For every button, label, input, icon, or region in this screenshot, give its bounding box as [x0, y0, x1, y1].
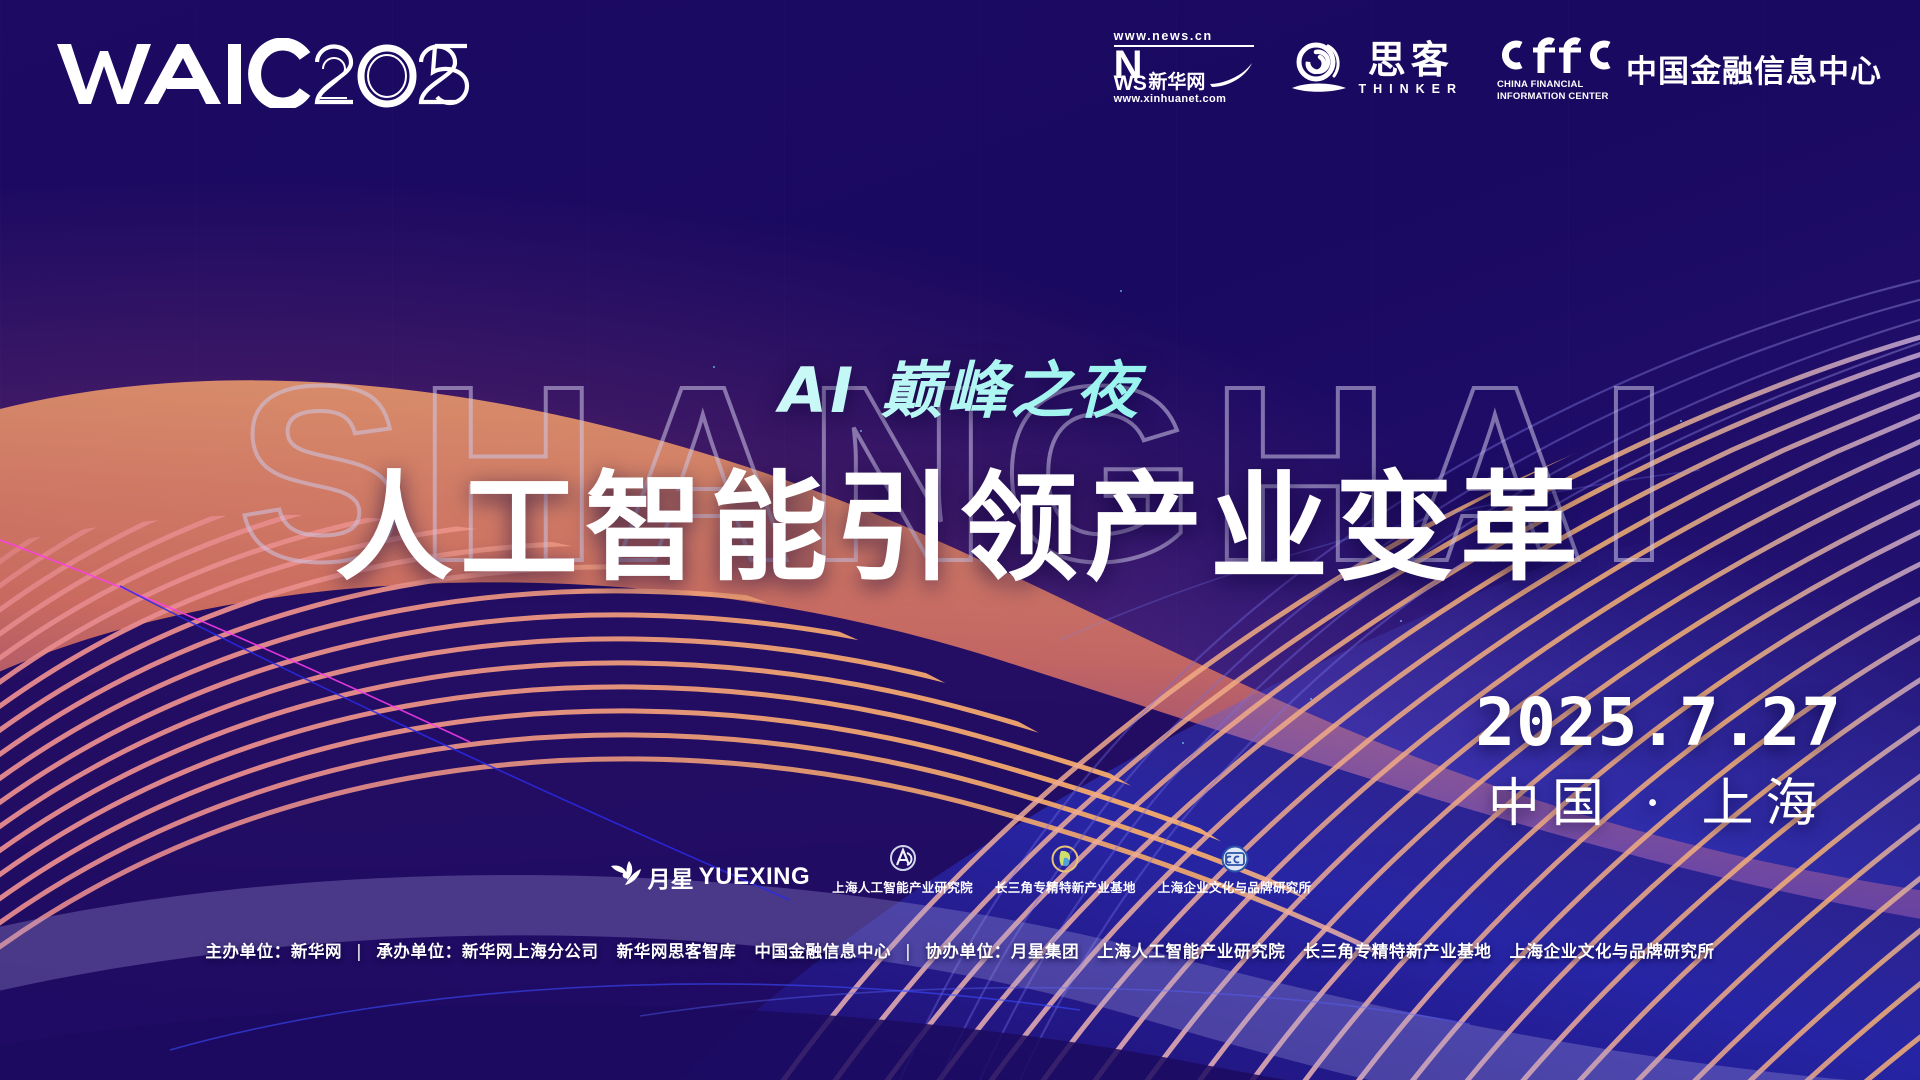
- xinhua-swoosh-icon: [1208, 61, 1254, 92]
- cfic-chinese-name: 中国金融信息中心: [1626, 46, 1882, 91]
- shanghai-culture-brand-institute-label: 上海企业文化与品牌研究所: [1158, 877, 1312, 896]
- thinker-chinese-name: 思客: [1368, 41, 1454, 79]
- credits-host-2: 新华网思客智库: [617, 942, 737, 961]
- sponsor-logo-shanghai-ai-institute: 上海人工智能产业研究院: [832, 845, 973, 896]
- sponsor-logo-shanghai-culture-brand-institute: 上海企业文化与品牌研究所: [1158, 845, 1312, 896]
- sponsor-logo-yuexing: 月星 YUEXING: [609, 859, 811, 896]
- xinhua-wordmark: N WS 新华网: [1114, 49, 1255, 93]
- credits-coorganizer: 协办单位：月星集团: [925, 942, 1079, 961]
- thinker-wordmark: 思客 THINKER: [1358, 41, 1463, 96]
- xinhua-chinese-name: 新华网: [1148, 73, 1205, 92]
- sponsor-logo-yangtze-delta-base: 长三角专精特新产业基地: [995, 845, 1136, 896]
- event-city: 中国 · 上海: [1475, 778, 1842, 830]
- cfic-mark: CHINA FINANCIAL INFORMATION CENTER: [1497, 34, 1613, 102]
- thinker-english-name: THINKER: [1358, 82, 1463, 96]
- shanghai-ai-institute-badge-icon: [887, 845, 919, 875]
- xinhua-url-top: www.news.cn: [1114, 30, 1213, 44]
- sponsor-logo-strip: 月星 YUEXING 上海人工智能产业研究院: [0, 845, 1920, 896]
- yuexing-english-name: YUEXING: [699, 863, 811, 891]
- credits-host-3: 中国金融信息中心: [754, 942, 891, 961]
- shanghai-ai-institute-label: 上海人工智能产业研究院: [832, 877, 973, 896]
- event-title: 人工智能引领产业变革: [0, 432, 1920, 603]
- credits-coorg-3: 长三角专精特新产业基地: [1303, 942, 1491, 961]
- xinhua-url-bottom: www.xinhuanet.com: [1114, 93, 1227, 106]
- yuexing-star-icon: [609, 859, 643, 894]
- xinhuanet-logo: www.news.cn N WS 新华网 www.xinhuanet.com: [1114, 30, 1255, 107]
- xinhua-letter-ws: WS: [1114, 76, 1147, 93]
- top-logo-bar: www.news.cn N WS 新华网 www.xinhuanet.com: [0, 0, 1920, 132]
- credits-coorg-2: 上海人工智能产业研究院: [1097, 942, 1285, 961]
- poster-canvas: SHANGHAI: [0, 0, 1920, 1080]
- event-date: 2025.7.27: [1475, 690, 1842, 756]
- credits-separator-1: |: [356, 942, 362, 961]
- date-location-block: 2025.7.27 中国 · 上海: [1475, 690, 1842, 830]
- yuexing-chinese-name: 月星: [648, 860, 694, 894]
- thinker-logo: 思客 THINKER: [1288, 40, 1463, 96]
- partner-logo-group: www.news.cn N WS 新华网 www.xinhuanet.com: [1114, 30, 1882, 107]
- credits-organizer: 主办单位：新华网: [205, 942, 342, 961]
- credits-separator-2: |: [905, 942, 911, 961]
- cfic-logo: CHINA FINANCIAL INFORMATION CENTER 中国金融信…: [1497, 34, 1882, 102]
- shanghai-culture-brand-institute-badge-icon: [1219, 845, 1251, 875]
- yangtze-delta-base-badge-icon: [1049, 845, 1081, 875]
- cfic-acronym-icon: [1497, 34, 1613, 79]
- cfic-english-line2: INFORMATION CENTER: [1497, 92, 1609, 103]
- cfic-english-line1: CHINA FINANCIAL: [1497, 80, 1584, 91]
- credits-host: 承办单位：新华网上海分公司: [376, 942, 598, 961]
- credits-coorg-4: 上海企业文化与品牌研究所: [1509, 942, 1714, 961]
- footer-credits: 主办单位：新华网|承办单位：新华网上海分公司新华网思客智库中国金融信息中心|协办…: [0, 938, 1920, 962]
- waic-2025-logo: [55, 38, 475, 108]
- thinker-brush-swirl-icon: [1288, 40, 1350, 96]
- yangtze-delta-base-label: 长三角专精特新产业基地: [995, 877, 1136, 896]
- event-subtitle: AI 巅峰之夜: [0, 340, 1920, 430]
